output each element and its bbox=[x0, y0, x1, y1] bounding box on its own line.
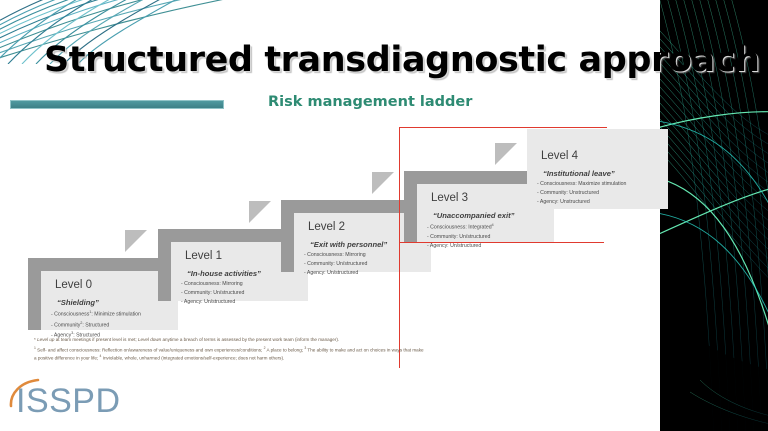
highlight-marker-level-3 bbox=[399, 127, 699, 368]
step-corner-vertical bbox=[28, 271, 41, 330]
card-quote: “Shielding” bbox=[57, 299, 99, 307]
footnote-numbered: 1 Self- and affect consciousness: Reflec… bbox=[34, 346, 424, 362]
card-bullet-consciousness: - Consciousness1: Minimize stimulation bbox=[51, 309, 141, 320]
isspd-logo: ISSPD bbox=[8, 374, 148, 424]
step-corner-horizontal bbox=[28, 258, 178, 271]
slide-subtitle: Risk management ladder bbox=[268, 94, 472, 110]
card-bullet-list: - Consciousness: Mirroring - Community: … bbox=[181, 280, 244, 307]
card-bullet-agency: - Agency: Un/structured bbox=[304, 269, 367, 278]
card-bullet-consciousness: - Consciousness: Mirroring bbox=[304, 251, 367, 260]
slide-canvas: Structured transdiagnostic approach Risk… bbox=[0, 0, 768, 431]
card-bullet-list: - Consciousness: Mirroring - Community: … bbox=[304, 251, 367, 278]
card-bullet-community: - Community2: Structured bbox=[51, 320, 141, 331]
card-bullet-community: - Community: Un/structured bbox=[304, 260, 367, 269]
step-corner-vertical bbox=[158, 242, 171, 301]
footnotes-block: * Level up at team meetings if present l… bbox=[34, 336, 424, 364]
step-corner-vertical bbox=[281, 213, 294, 272]
slide-title: Structured transdiagnostic approach bbox=[44, 40, 760, 80]
title-underline-bar bbox=[10, 100, 224, 109]
card-level-label: Level 0 bbox=[55, 280, 92, 292]
highlight-marker-bottom-edge bbox=[399, 242, 604, 243]
ladder-step-level-0[interactable]: Level 0 “Shielding” - Consciousness1: Mi… bbox=[28, 258, 178, 330]
step-arrow-0-to-1 bbox=[125, 230, 147, 252]
card-quote: “Exit with personnel” bbox=[310, 241, 387, 249]
card-bullet-agency: - Agency: Un/structured bbox=[181, 298, 244, 307]
card-bullet-community: - Community: Un/structured bbox=[181, 289, 244, 298]
card-quote: “In-house activities” bbox=[187, 270, 261, 278]
step-arrow-2-to-3 bbox=[372, 172, 394, 194]
card-bullet-consciousness: - Consciousness: Mirroring bbox=[181, 280, 244, 289]
step-arrow-1-to-2 bbox=[249, 201, 271, 223]
card-level-label: Level 1 bbox=[185, 251, 222, 263]
card-level-label: Level 2 bbox=[308, 222, 345, 234]
footnote-asterisk: * Level up at team meetings if present l… bbox=[34, 336, 424, 343]
svg-text:ISSPD: ISSPD bbox=[16, 382, 121, 420]
highlight-marker-top-edge bbox=[399, 127, 607, 128]
